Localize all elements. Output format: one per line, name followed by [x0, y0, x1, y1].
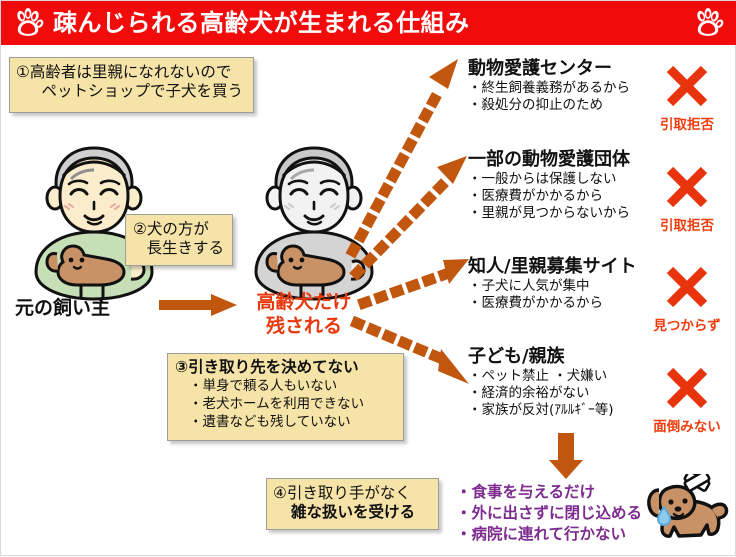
destination-3-result: 見つからず	[642, 314, 732, 334]
outcome-bullet-2: ・外に出さずに閉じ込める	[456, 503, 642, 524]
title-bar: 疎んじられる高齢犬が生まれる仕組み	[1, 1, 736, 45]
outcome-block: ・食事を与えるだけ ・外に出さずに閉じ込める ・病院に連れて行かない	[456, 482, 642, 545]
dotted-arrow-2-head	[437, 156, 467, 184]
paw-icon	[11, 6, 45, 40]
dotted-arrow-3-head	[443, 259, 469, 284]
callout-step3: ③引き取り先を決めてない ・単身で頼る人もいない ・老犬ホームを利用できない ・…	[167, 353, 404, 441]
callout-step1-line1: ①高齢者は里親になれないので	[16, 63, 247, 82]
destination-1-result: 引取拒否	[642, 113, 732, 133]
callout-step2: ②犬の方が 長生きする	[125, 214, 233, 266]
x-mark-icon	[664, 63, 710, 109]
sad-dog-icon	[633, 474, 729, 552]
destination-2-bullet-1: ・一般からは保護しない	[468, 171, 630, 188]
callout-step4-line1: ④引き取り手がなく	[273, 484, 433, 503]
paw-icon	[691, 6, 725, 40]
destination-4-title: 子ども/親族	[468, 346, 614, 368]
infographic-page: 疎んじられる高齢犬が生まれる仕組み ①高齢者は里親になれないので ペットショップ…	[0, 0, 736, 556]
destination-3-title: 知人/里親募集サイト	[468, 256, 637, 278]
destination-block-2: 一部の動物愛護団体 ・一般からは保護しない ・医療費がかかるから ・里親が見つか…	[468, 149, 630, 222]
destination-block-4: 子ども/親族 ・ペット禁止 ・犬嫌い ・経済的余裕がない ・家族が反対(ｱﾙﾙｷ…	[468, 346, 614, 419]
left-alone-line2: 残される	[266, 315, 342, 337]
callout-step3-bullet-2: ・老犬ホームを利用できない	[175, 395, 397, 413]
callout-step1-line2: ペットショップで子犬を買う	[16, 82, 247, 101]
dotted-arrow-4-head	[438, 349, 469, 384]
x-mark-icon	[664, 264, 710, 310]
callout-step4: ④引き取り手がなく 雑な扱いを受ける	[266, 478, 439, 530]
destination-3-bullet-2: ・医療費がかかるから	[468, 295, 637, 312]
x-mark-icon	[664, 365, 710, 411]
callout-step3-bullet-3: ・遺書なども残していない	[175, 413, 397, 431]
destination-1-bullet-2: ・殺処分の抑止のため	[468, 97, 630, 114]
callout-step2-line2: 長生きする	[133, 239, 226, 258]
destination-2-bullet-2: ・医療費がかかるから	[468, 188, 630, 205]
destination-2-title: 一部の動物愛護団体	[468, 149, 630, 171]
right-arrow-icon	[159, 294, 237, 316]
destination-4-bullet-1: ・ペット禁止 ・犬嫌い	[468, 368, 614, 385]
outcome-bullet-3: ・病院に連れて行かない	[456, 524, 642, 545]
destination-2-bullet-3: ・里親が見つからないから	[468, 205, 630, 222]
destination-4-bullet-3: ・家族が反対(ｱﾙﾙｷﾞｰ等)	[468, 402, 614, 419]
outcome-bullet-1: ・食事を与えるだけ	[456, 482, 642, 503]
destination-2-result: 引取拒否	[642, 214, 732, 234]
page-title: 疎んじられる高齢犬が生まれる仕組み	[53, 1, 691, 45]
deceased-owner-figure-illustration	[239, 136, 389, 301]
callout-step3-heading: ③引き取り先を決めてない	[175, 358, 397, 377]
callout-step2-line1: ②犬の方が	[133, 220, 226, 239]
destination-1-bullet-1: ・終生飼養義務があるから	[468, 80, 630, 97]
destination-block-1: 動物愛護センター ・終生飼養義務があるから ・殺処分の抑止のため	[468, 58, 630, 114]
destination-block-3: 知人/里親募集サイト ・子犬に人気が集中 ・医療費がかかるから	[468, 256, 637, 312]
callout-step3-bullet-1: ・単身で頼る人もいない	[175, 377, 397, 395]
destination-4-result: 面倒みない	[642, 415, 732, 435]
destination-1-title: 動物愛護センター	[468, 58, 630, 80]
callout-step4-line2: 雑な扱いを受ける	[273, 503, 433, 522]
left-alone-label: 高齢犬だけ 残される	[239, 290, 369, 338]
dotted-arrow-1-head	[429, 59, 458, 89]
callout-step1: ①高齢者は里親になれないので ペットショップで子犬を買う	[9, 57, 254, 113]
destination-3-bullet-1: ・子犬に人気が集中	[468, 278, 637, 295]
x-mark-icon	[664, 164, 710, 210]
owner-label: 元の飼い主	[15, 293, 110, 320]
destination-4-bullet-2: ・経済的余裕がない	[468, 385, 614, 402]
left-alone-line1: 高齢犬だけ	[256, 291, 351, 313]
down-arrow-icon	[549, 433, 583, 479]
